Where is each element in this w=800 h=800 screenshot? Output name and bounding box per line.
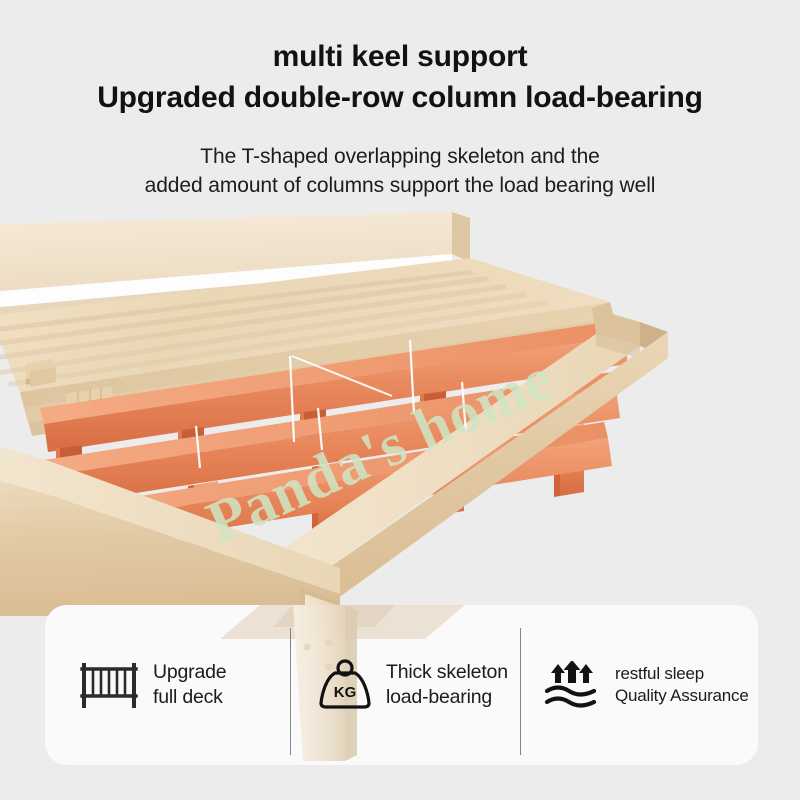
headline-line-2: Upgraded double-row column load-bearing [0,83,800,113]
headline-line-1: multi keel support [0,42,800,72]
bed-frame-illustration [0,196,800,616]
feature-1-line-2: full deck [153,685,226,710]
feature-text-1: Upgrade full deck [153,660,226,711]
feature-divider-2 [520,628,521,755]
arrows-waves-icon [542,661,602,709]
feature-text-2: Thick skeleton load-bearing [386,660,508,711]
subtitle-line-1: The T-shaped overlapping skeleton and th… [0,143,800,172]
feature-list: Upgrade full deck KG Thick skeleton load… [45,605,758,765]
kg-icon-label: KG [334,684,357,701]
product-infographic: multi keel support Upgraded double-row c… [0,0,800,800]
feature-divider-1 [290,628,291,755]
feature-1-line-1: Upgrade [153,660,226,685]
subtitle-block: The T-shaped overlapping skeleton and th… [0,143,800,201]
kg-weight-icon: KG [317,658,373,712]
feature-3-line-1: restful sleep [615,663,749,685]
feature-2-line-1: Thick skeleton [386,660,508,685]
feature-text-3: restful sleep Quality Assurance [615,663,749,707]
headline-block: multi keel support Upgraded double-row c… [0,42,800,113]
feature-2-line-2: load-bearing [386,685,508,710]
slatted-deck-icon [78,660,140,710]
feature-item-upgrade-full-deck[interactable]: Upgrade full deck [45,605,290,765]
feature-item-restful-sleep[interactable]: restful sleep Quality Assurance [520,605,758,765]
feature-card: Upgrade full deck KG Thick skeleton load… [45,605,758,765]
feature-3-line-2: Quality Assurance [615,685,749,707]
feature-item-thick-skeleton[interactable]: KG Thick skeleton load-bearing [290,605,520,765]
subtitle-line-2: added amount of columns support the load… [0,172,800,201]
